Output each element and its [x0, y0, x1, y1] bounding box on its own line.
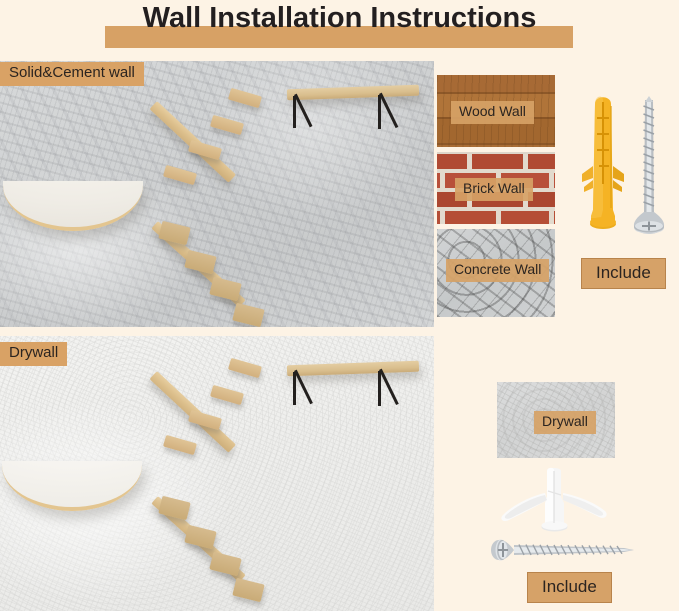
- cat-step-upper-4: [163, 165, 197, 185]
- drywall-include-label: Include: [527, 572, 612, 603]
- drywall-photo: Drywall: [0, 336, 434, 611]
- wall-type-swatch-wood: Wood Wall: [437, 75, 555, 147]
- cat-step-lower-1-dw: [158, 496, 190, 520]
- cat-step-upper-4-dw: [163, 435, 197, 455]
- screw-icon: [491, 540, 634, 561]
- cat-step-lower-4-dw: [232, 578, 264, 602]
- shelf-bracket-right-diagonal: [379, 93, 398, 128]
- screw-icon: [634, 96, 664, 234]
- wall-type-swatch-concrete: Concrete Wall: [437, 229, 555, 317]
- cat-step-lower-1: [158, 221, 190, 245]
- cat-step-lower-3-dw: [209, 552, 241, 576]
- shelf-bracket-right-diagonal-dw: [379, 369, 399, 405]
- wall-shelf-board-dw: [287, 361, 419, 377]
- cat-wave-lounger: [3, 181, 143, 231]
- shelf-bracket-right-vertical-dw: [378, 371, 381, 406]
- drywall-screw-illustration: [486, 537, 641, 563]
- wall-type-label-drywall: Drywall: [534, 411, 596, 434]
- wall-type-swatch-drywall: Drywall: [497, 382, 615, 458]
- wall-anchor-plug-icon: [582, 97, 624, 229]
- cat-wave-lounger-dw: [2, 461, 142, 511]
- shelf-bracket-left-vertical-dw: [293, 372, 296, 405]
- shelf-bracket-left-vertical: [293, 96, 296, 128]
- page-header: Wall Installation Instructions: [0, 0, 679, 55]
- cat-step-lower-3: [209, 277, 241, 301]
- cat-step-upper-2: [210, 115, 244, 135]
- drywall-panel-label: Drywall: [0, 342, 67, 366]
- page-title: Wall Installation Instructions: [0, 2, 679, 35]
- wall-type-label-brick: Brick Wall: [455, 178, 533, 201]
- cat-step-upper-2-dw: [210, 385, 244, 405]
- wall-shelf-board: [287, 85, 419, 101]
- solid-wall-include-label: Include: [581, 258, 666, 289]
- solid-wall-hardware-illustration: [575, 88, 667, 248]
- cat-step-lower-2: [184, 250, 216, 274]
- solid-cement-wall-label: Solid&Cement wall: [0, 62, 144, 86]
- cat-step-upper-1-dw: [228, 358, 262, 378]
- toggle-anchor-icon: [501, 468, 606, 532]
- wall-type-label-wood: Wood Wall: [451, 101, 534, 124]
- cat-step-lower-4: [232, 303, 264, 327]
- wall-type-swatch-brick: Brick Wall: [437, 152, 555, 224]
- shelf-bracket-right-vertical: [378, 95, 381, 129]
- wall-type-label-concrete: Concrete Wall: [446, 259, 549, 282]
- solid-cement-wall-photo: Solid&Cement wall: [0, 61, 434, 327]
- cat-step-lower-2-dw: [184, 525, 216, 549]
- cat-step-upper-1: [228, 88, 262, 108]
